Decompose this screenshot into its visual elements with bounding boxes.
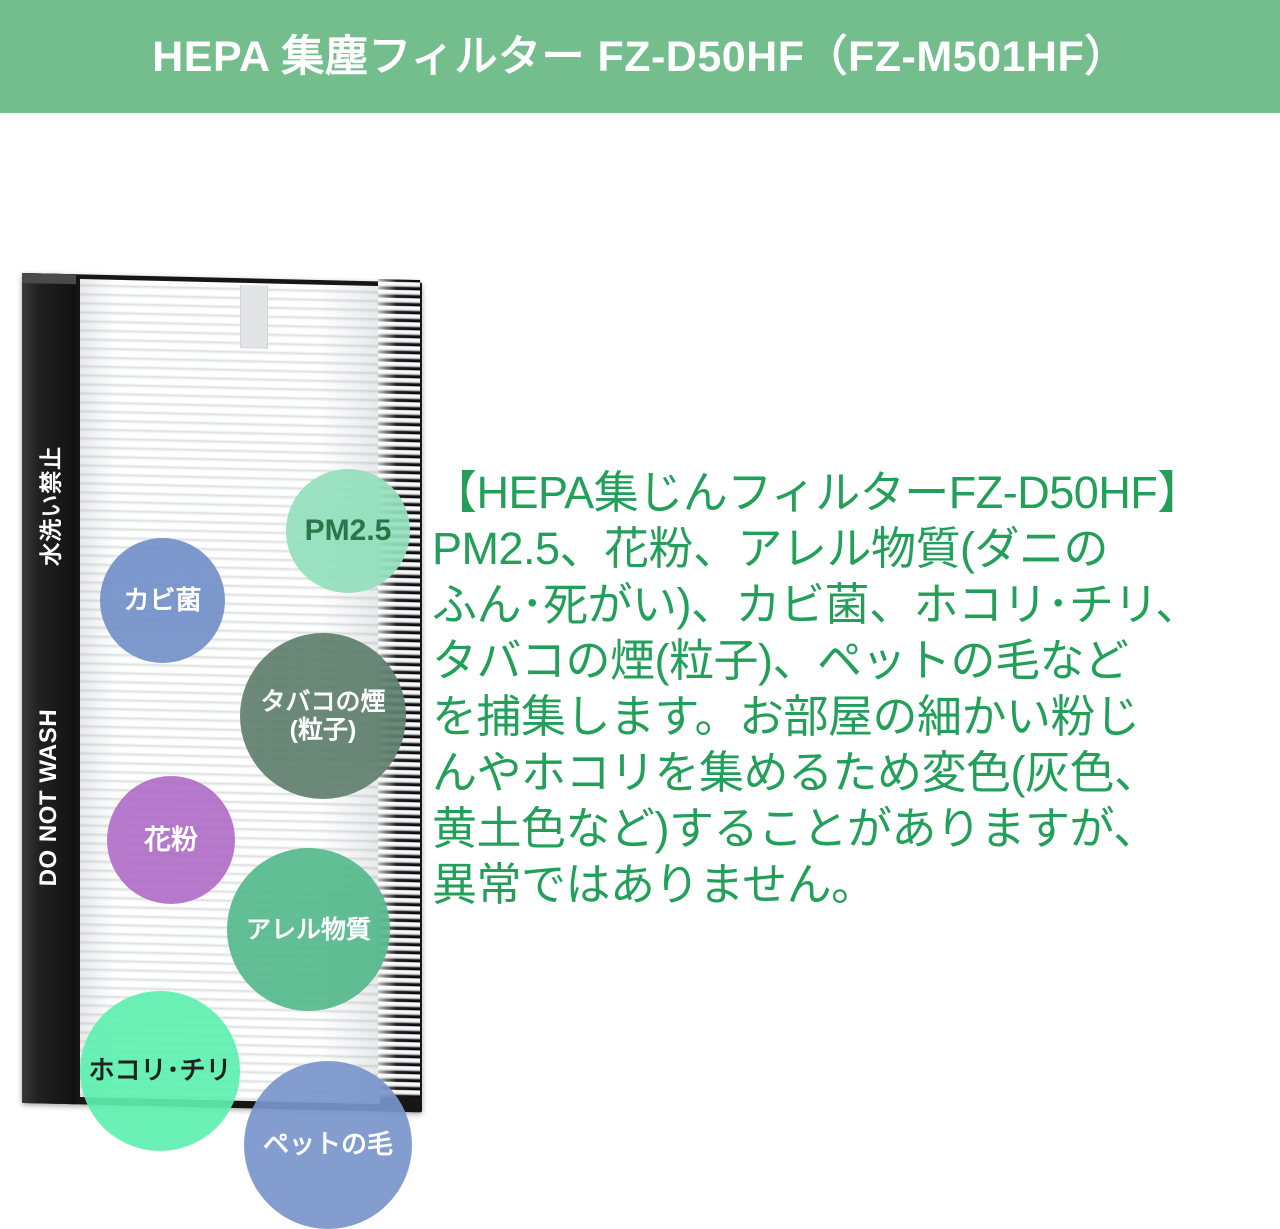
bubble-pollen-label: 花粉 xyxy=(138,825,204,855)
product-description: 【HEPA集じんフィルターFZ-D50HF】 PM2.5、花粉、アレル物質(ダニ… xyxy=(432,465,1268,913)
description-line: 【HEPA集じんフィルターFZ-D50HF】 xyxy=(432,465,1268,521)
description-line: PM2.5、花粉、アレル物質(ダニの xyxy=(432,521,1268,577)
bubble-pm25-label: PM2.5 xyxy=(299,514,398,548)
bubble-allergen-label: アレル物質 xyxy=(240,916,377,944)
bubble-tobacco-smoke-line1: タバコの煙 xyxy=(260,688,385,716)
bubble-pm25: PM2.5 xyxy=(286,469,410,593)
caution-label-japanese: 水洗い禁止 xyxy=(32,355,66,656)
filter-pull-tab xyxy=(240,285,268,349)
bubble-mold: カビ菌 xyxy=(100,538,225,663)
description-line: ふん･死がい)、カビ菌、ホコリ･チリ、 xyxy=(432,577,1268,633)
description-line: 異常ではありません。 xyxy=(432,857,1268,913)
bubble-dust: ホコリ･チリ xyxy=(80,991,240,1151)
bubble-tobacco-smoke: タバコの煙 (粒子) xyxy=(240,633,406,799)
bubble-tobacco-smoke-line2: (粒子) xyxy=(290,716,357,744)
page-title: HEPA 集塵フィルター FZ-D50HF（FZ-M501HF） xyxy=(152,36,1128,79)
bubble-tobacco-smoke-label: タバコの煙 (粒子) xyxy=(254,688,391,744)
bubble-pet-hair: ペットの毛 xyxy=(244,1061,412,1229)
hepa-filter-illustration: 水洗い禁止 DO NOT WASH PM2.5 カビ菌 タバコの煙 (粒子) 花… xyxy=(22,273,422,1103)
description-line: 黄土色など)することがありますが、 xyxy=(432,801,1268,857)
header-band: HEPA 集塵フィルター FZ-D50HF（FZ-M501HF） xyxy=(0,0,1280,113)
bubble-dust-label: ホコリ･チリ xyxy=(82,1056,237,1085)
bubble-allergen: アレル物質 xyxy=(227,848,390,1011)
product-image: 水洗い禁止 DO NOT WASH PM2.5 カビ菌 タバコの煙 (粒子) 花… xyxy=(0,113,440,1096)
spine-top-bevel xyxy=(22,273,76,284)
description-line: タバコの煙(粒子)、ペットの毛など xyxy=(432,633,1268,689)
caution-label-english: DO NOT WASH xyxy=(35,637,63,958)
bubble-pollen: 花粉 xyxy=(107,776,235,904)
description-line: を捕集します。お部屋の細かい粉じ xyxy=(432,689,1268,745)
bubble-mold-label: カビ菌 xyxy=(117,586,207,615)
bubble-pet-hair-label: ペットの毛 xyxy=(257,1130,399,1159)
description-line: んやホコリを集めるため変色(灰色、 xyxy=(432,745,1268,801)
filter-side-spine: 水洗い禁止 DO NOT WASH xyxy=(22,273,76,1104)
